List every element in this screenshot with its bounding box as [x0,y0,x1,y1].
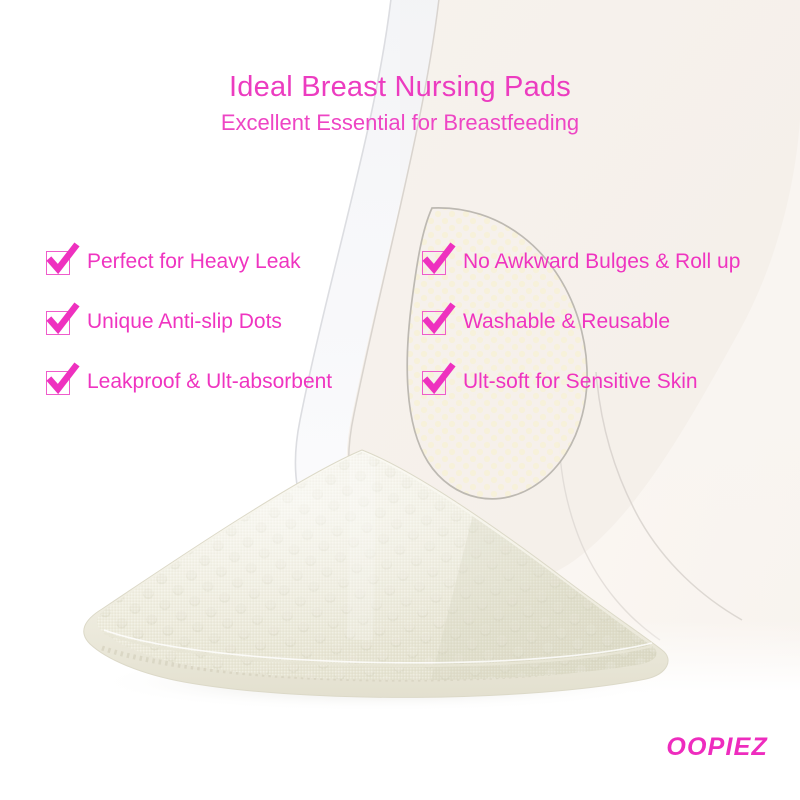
feature-label: Unique Anti-slip Dots [87,310,282,334]
heading-block: Ideal Breast Nursing Pads Excellent Esse… [0,70,800,137]
feature-item: Leakproof & Ult-absorbent [46,352,332,412]
nursing-pad-photo [62,440,687,715]
checkbox-checked-icon [46,308,74,336]
checkbox-checked-icon [46,248,74,276]
product-infographic: Ideal Breast Nursing Pads Excellent Esse… [0,0,800,800]
feature-label: Leakproof & Ult-absorbent [87,370,332,394]
feature-label: Washable & Reusable [463,310,670,334]
page-title: Ideal Breast Nursing Pads [0,70,800,104]
feature-label: Perfect for Heavy Leak [87,250,301,274]
feature-label: Ult-soft for Sensitive Skin [463,370,698,394]
feature-label: No Awkward Bulges & Roll up [463,250,740,274]
checkbox-checked-icon [422,308,450,336]
feature-item: Unique Anti-slip Dots [46,292,332,352]
checkbox-checked-icon [46,368,74,396]
feature-list: Perfect for Heavy Leak Unique Anti-slip … [0,232,800,402]
feature-item: Washable & Reusable [422,292,740,352]
feature-item: Perfect for Heavy Leak [46,232,332,292]
feature-column-left: Perfect for Heavy Leak Unique Anti-slip … [46,232,332,412]
checkbox-checked-icon [422,368,450,396]
feature-item: No Awkward Bulges & Roll up [422,232,740,292]
brand-logo: OOPIEZ [666,733,768,762]
feature-item: Ult-soft for Sensitive Skin [422,352,740,412]
feature-column-right: No Awkward Bulges & Roll up Washable & R… [422,232,740,412]
checkbox-checked-icon [422,248,450,276]
page-subtitle: Excellent Essential for Breastfeeding [0,109,800,137]
